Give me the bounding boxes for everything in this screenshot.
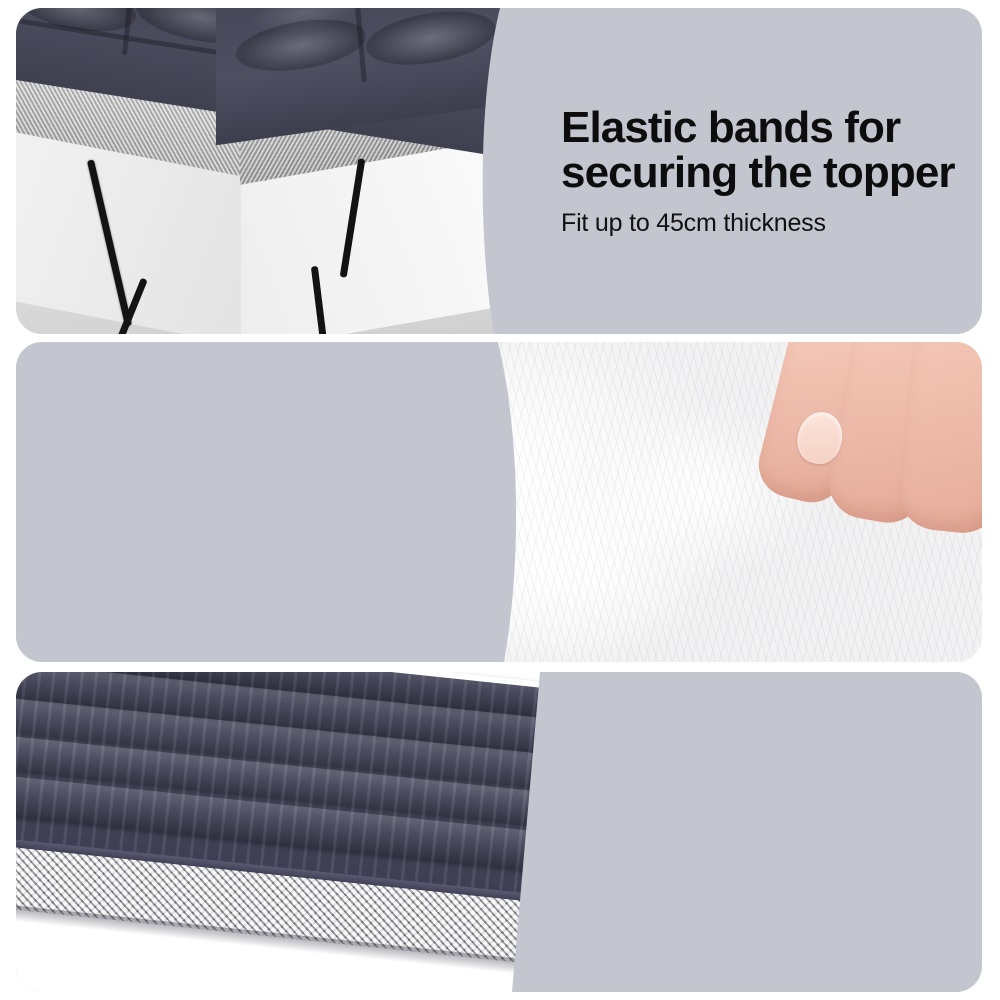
infographic-sheet: Elastic bands for securing the topper Fi… <box>0 0 1000 1000</box>
panel-1-headline: Elastic bands for securing the topper <box>561 106 982 196</box>
panel-1-subline: Fit up to 45cm thickness <box>561 209 982 238</box>
panel-2-text-surface <box>16 342 982 662</box>
feature-panel-ultra-thick: Ultra thick Durable & long-lasting <box>16 672 982 992</box>
feature-panel-elastic-bands: Elastic bands for securing the topper Fi… <box>16 8 982 334</box>
feature-panel-microfibre-filling: Innovative microfibre filing Soft and co… <box>16 342 982 662</box>
panel-3-text-surface <box>16 672 982 992</box>
panel-1-text: Elastic bands for securing the topper Fi… <box>561 106 982 238</box>
